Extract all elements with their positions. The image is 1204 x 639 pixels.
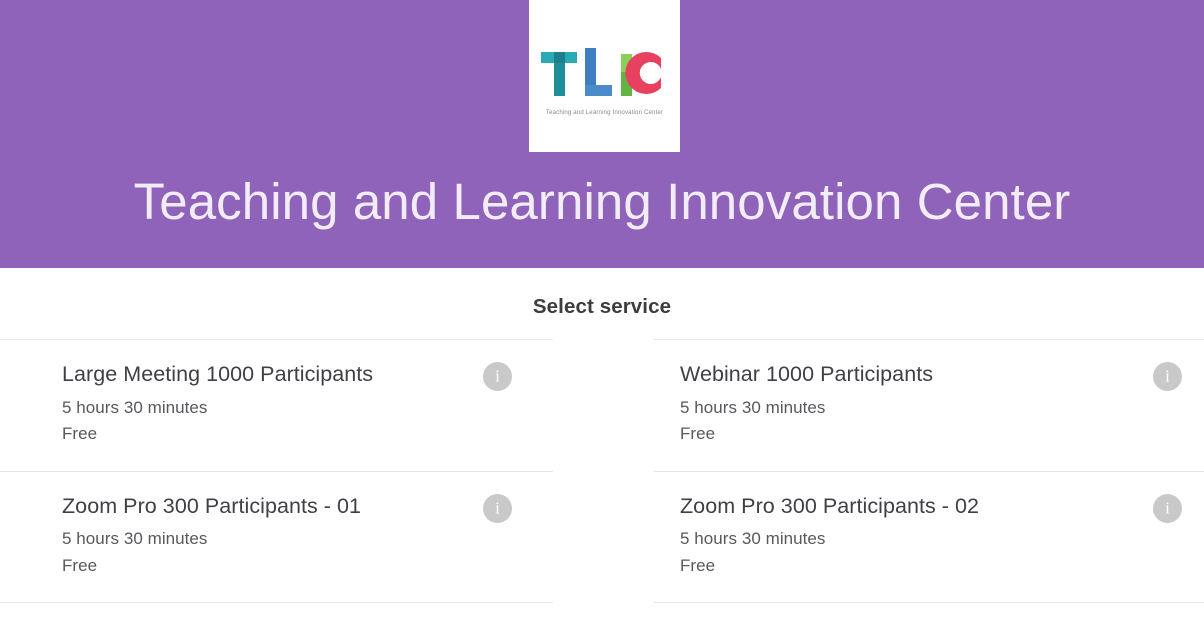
service-item-webinar-1000[interactable]: Webinar 1000 Participants 5 hours 30 min… (654, 339, 1204, 471)
service-price: Free (62, 421, 553, 447)
page-banner: Teaching and Learning Innovation Center … (0, 0, 1204, 268)
info-icon-glyph: i (495, 368, 500, 385)
service-price: Free (680, 553, 1182, 579)
service-column-right: Webinar 1000 Participants 5 hours 30 min… (602, 339, 1204, 639)
select-service-heading: Select service (0, 268, 1204, 339)
service-name: Webinar 1000 Participants (680, 361, 1182, 388)
service-duration: 5 hours 30 minutes (680, 526, 1182, 552)
tlic-wordmark-icon (541, 42, 669, 100)
service-duration: 5 hours 30 minutes (62, 526, 553, 552)
service-name: Large Meeting 1000 Participants (62, 361, 553, 388)
info-icon[interactable]: i (483, 362, 512, 391)
service-item-large-meeting-1000[interactable]: Large Meeting 1000 Participants 5 hours … (0, 339, 553, 471)
info-icon-glyph: i (495, 499, 500, 516)
service-item-partial-next[interactable] (654, 602, 1204, 639)
service-item-zoom-pro-300-02[interactable]: Zoom Pro 300 Participants - 02 5 hours 3… (654, 471, 1204, 603)
info-icon-glyph: i (1165, 368, 1170, 385)
page-title: Teaching and Learning Innovation Center (0, 172, 1204, 232)
info-icon[interactable]: i (1153, 362, 1182, 391)
service-name: Zoom Pro 300 Participants - 02 (680, 493, 1182, 520)
info-icon[interactable]: i (483, 494, 512, 523)
service-column-left: Large Meeting 1000 Participants 5 hours … (0, 339, 602, 639)
tlic-logo-card: Teaching and Learning Innovation Center (529, 0, 680, 152)
tlic-logo-tagline: Teaching and Learning Innovation Center (546, 109, 663, 116)
service-duration: 5 hours 30 minutes (62, 395, 553, 421)
service-name: Zoom Pro 300 Participants - 01 (62, 493, 553, 520)
service-price: Free (680, 421, 1182, 447)
info-icon[interactable]: i (1153, 494, 1182, 523)
info-icon-glyph: i (1165, 499, 1170, 516)
service-list: Large Meeting 1000 Participants 5 hours … (0, 339, 1204, 639)
service-price: Free (62, 553, 553, 579)
service-duration: 5 hours 30 minutes (680, 395, 1182, 421)
service-item-partial-next[interactable] (0, 602, 553, 639)
service-item-zoom-pro-300-01[interactable]: Zoom Pro 300 Participants - 01 5 hours 3… (0, 471, 553, 603)
